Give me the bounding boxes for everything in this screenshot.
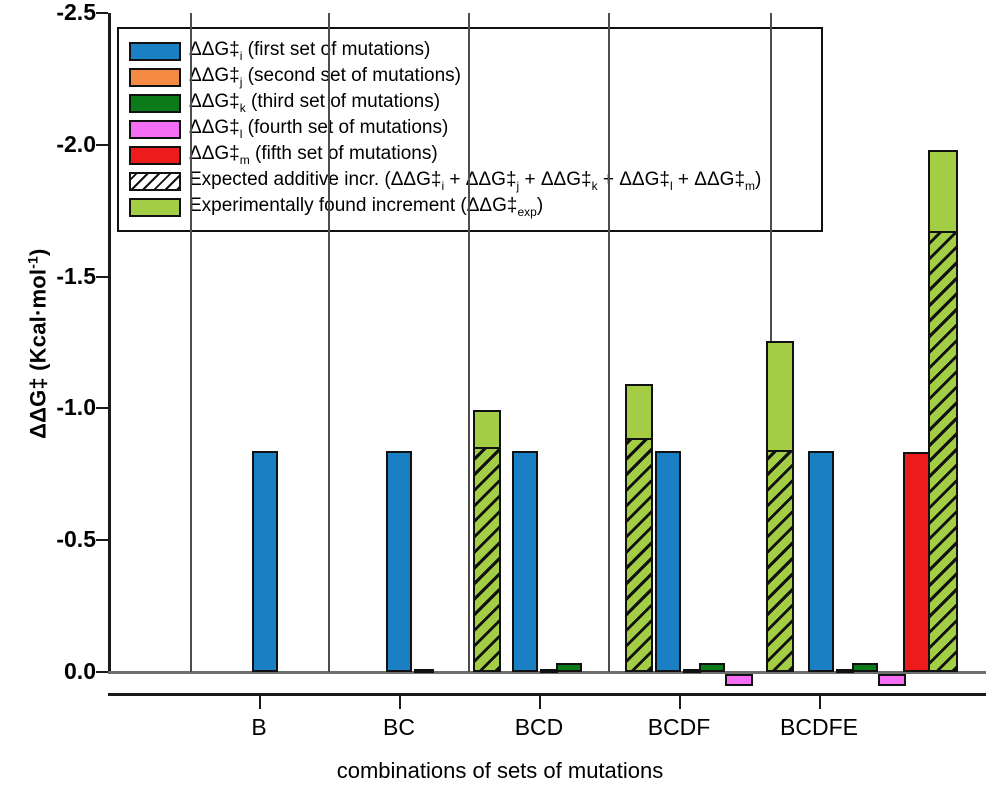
y-axis-title-text: ΔΔG‡ (Kcal·mol [26, 269, 51, 439]
y-axis-title-close: ) [26, 248, 51, 256]
chart-legend: ΔΔG‡i (first set of mutations)ΔΔG‡j (sec… [117, 27, 823, 232]
y-tick-label: -1.0 [8, 396, 96, 419]
bar-ddg-i-BCDFE [808, 451, 834, 672]
x-tick-label-BCDFE: BCDFE [739, 714, 899, 741]
group-separator [608, 13, 610, 672]
bar-ddg-k-BCD [556, 663, 582, 672]
bar-experimental-BCDFE [928, 150, 958, 233]
group-separator [190, 13, 192, 672]
legend-swatch-ddg-j [129, 68, 181, 87]
x-axis-title: combinations of sets of mutations [0, 758, 1000, 784]
group-separator [328, 13, 330, 672]
bar-experimental-BC [473, 410, 501, 450]
y-tick-label: -2.5 [8, 1, 96, 24]
legend-swatch-ddg-k [129, 94, 181, 113]
bar-expected-additive-BCDF [766, 450, 794, 672]
x-tick-label-BC: BC [319, 714, 479, 741]
legend-swatch-ddg-m [129, 146, 181, 165]
legend-item-label: ΔΔG‡k (third set of mutations) [189, 92, 440, 114]
bar-ddg-j-BC [414, 669, 434, 673]
bar-ddg-i-B [252, 451, 278, 672]
y-tick-mark [96, 539, 108, 541]
y-tick-mark [96, 276, 108, 278]
legend-swatch-expected-additive [129, 172, 181, 191]
legend-item: ΔΔG‡j (second set of mutations) [129, 64, 811, 90]
y-tick-label: 0.0 [8, 660, 96, 683]
y-tick-label: -2.0 [8, 133, 96, 156]
legend-swatch-ddg-i [129, 42, 181, 61]
bar-expected-additive-BCDFE [928, 231, 958, 672]
x-tick-mark [679, 696, 681, 709]
x-tick-mark [399, 696, 401, 709]
x-tick-mark [819, 696, 821, 709]
x-tick-mark [539, 696, 541, 709]
legend-item-label: ΔΔG‡l (fourth set of mutations) [189, 118, 448, 140]
y-axis-title: ΔΔG‡ (Kcal·mol-1) [24, 214, 51, 474]
legend-item: Experimentally found increment (ΔΔG‡exp) [129, 194, 811, 220]
legend-item: ΔΔG‡m (fifth set of mutations) [129, 142, 811, 168]
bar-ddg-i-BCD [512, 451, 538, 672]
bar-expected-additive-BCD [625, 438, 653, 672]
y-axis-title-exponent: -1 [24, 256, 40, 269]
bar-ddg-k-BCDFE [852, 663, 878, 672]
bar-experimental-BCDF [766, 341, 794, 452]
legend-item-label: ΔΔG‡j (second set of mutations) [189, 66, 461, 88]
legend-item-label: ΔΔG‡i (first set of mutations) [189, 40, 430, 62]
x-tick-label-BCDF: BCDF [599, 714, 759, 741]
chart-figure: -2.5-2.0-1.5-1.0-0.50.0 ΔΔG‡ (Kcal·mol-1… [0, 0, 1000, 793]
legend-item: Expected additive incr. (ΔΔG‡i + ΔΔG‡j +… [129, 168, 811, 194]
x-tick-mark [259, 696, 261, 709]
bar-expected-additive-BC [473, 447, 501, 672]
y-tick-mark [96, 144, 108, 146]
x-axis-line [108, 693, 986, 696]
bar-ddg-i-BCDF [655, 451, 681, 672]
legend-item-label: ΔΔG‡m (fifth set of mutations) [189, 144, 438, 166]
bar-ddg-l-BCDFE [878, 674, 906, 686]
legend-item: ΔΔG‡k (third set of mutations) [129, 90, 811, 116]
bar-ddg-l-BCDF [725, 674, 753, 686]
y-tick-mark [96, 407, 108, 409]
bar-ddg-k-BCDF [699, 663, 725, 672]
legend-swatch-experimental [129, 198, 181, 217]
legend-item-label: Experimentally found increment (ΔΔG‡exp) [189, 196, 543, 218]
x-tick-label-BCD: BCD [459, 714, 619, 741]
legend-item: ΔΔG‡l (fourth set of mutations) [129, 116, 811, 142]
legend-item: ΔΔG‡i (first set of mutations) [129, 38, 811, 64]
bar-ddg-i-BC [386, 451, 412, 672]
x-tick-label-B: B [179, 714, 339, 741]
bar-experimental-BCD [625, 384, 653, 440]
group-separator [468, 13, 470, 672]
y-tick-label: -1.5 [8, 265, 96, 288]
y-tick-mark [96, 12, 108, 14]
legend-swatch-ddg-l [129, 120, 181, 139]
y-tick-mark [96, 671, 108, 673]
legend-item-label: Expected additive incr. (ΔΔG‡i + ΔΔG‡j +… [189, 170, 761, 192]
y-tick-label: -0.5 [8, 528, 96, 551]
